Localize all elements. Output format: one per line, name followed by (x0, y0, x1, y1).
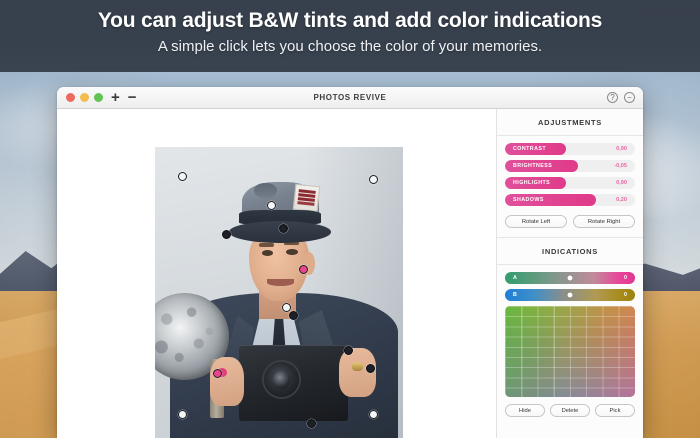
minimize-button[interactable] (80, 93, 89, 102)
slider-contrast[interactable]: CONTRAST0,90 (505, 143, 635, 155)
control-point[interactable] (178, 410, 187, 419)
indications-body: A 0 B 0 (497, 265, 643, 397)
slider-highlights[interactable]: HIGHLIGHTS0,90 (505, 177, 635, 189)
titlebar-right-tools: ? − (607, 92, 635, 103)
add-icon[interactable]: + (111, 90, 120, 105)
channel-b-label: B (513, 292, 517, 298)
banner-subhead: A simple click lets you choose the color… (0, 38, 700, 55)
channel-a-slider[interactable]: A 0 (505, 272, 635, 284)
hide-button[interactable]: Hide (505, 404, 545, 417)
slider-label: CONTRAST (513, 146, 546, 152)
channel-a-knob[interactable] (568, 276, 573, 281)
remove-icon[interactable]: − (128, 90, 137, 105)
app-window: + − PHOTOS REVIVE ? − (57, 87, 643, 438)
slider-value: 0,90 (616, 146, 627, 152)
channel-b-knob[interactable] (568, 293, 573, 298)
promo-banner: You can adjust B&W tints and add color i… (0, 0, 700, 72)
side-panel: ADJUSTMENTS CONTRAST0,90BRIGHTNESS-0,05H… (497, 109, 643, 438)
adjustments-title: ADJUSTMENTS (497, 109, 643, 136)
rotate-right-button[interactable]: Rotate Right (573, 215, 635, 228)
rotate-left-button[interactable]: Rotate Left (505, 215, 567, 228)
camera-lens-inner (273, 371, 290, 388)
channel-a-label: A (513, 275, 517, 281)
control-point[interactable] (307, 419, 316, 428)
press-card (293, 184, 320, 213)
slider-value: 0,20 (616, 197, 627, 203)
control-point[interactable] (282, 303, 291, 312)
pick-button[interactable]: Pick (595, 404, 635, 417)
control-point[interactable] (299, 265, 308, 274)
rotate-button-row: Rotate Left Rotate Right (497, 211, 643, 237)
window-body: ADJUSTMENTS CONTRAST0,90BRIGHTNESS-0,05H… (57, 109, 643, 438)
subject-eyebrow-left (259, 243, 274, 246)
window-title: PHOTOS REVIVE (57, 93, 643, 102)
slider-label: SHADOWS (513, 197, 544, 203)
canvas-area[interactable] (57, 109, 497, 438)
channel-b-slider[interactable]: B 0 (505, 289, 635, 301)
adjustments-slider-list: CONTRAST0,90BRIGHTNESS-0,05HIGHLIGHTS0,9… (497, 136, 643, 211)
slider-value: 0,90 (616, 180, 627, 186)
control-point[interactable] (213, 369, 222, 378)
channel-a-value: 0 (624, 275, 627, 281)
close-button[interactable] (66, 93, 75, 102)
subject-eye-right (286, 249, 297, 255)
slider-label: HIGHLIGHTS (513, 180, 550, 186)
slider-value: -0,05 (614, 163, 627, 169)
banner-headline: You can adjust B&W tints and add color i… (0, 9, 700, 33)
indications-button-row: Hide Delete Pick (497, 397, 643, 425)
window-titlebar: + − PHOTOS REVIVE ? − (57, 87, 643, 109)
indications-title: INDICATIONS (497, 238, 643, 265)
control-point[interactable] (178, 172, 187, 181)
subject-eye-left (262, 250, 273, 256)
zoom-button[interactable] (94, 93, 103, 102)
color-picker-grid[interactable] (505, 306, 635, 397)
slider-brightness[interactable]: BRIGHTNESS-0,05 (505, 160, 635, 172)
subject-hand-left (210, 357, 245, 406)
subject-ring (352, 362, 363, 371)
control-point[interactable] (366, 364, 375, 373)
color-grid-lines (505, 306, 635, 397)
photo-canvas[interactable] (155, 147, 403, 438)
slider-label: BRIGHTNESS (513, 163, 552, 169)
control-point[interactable] (369, 175, 378, 184)
collapse-icon[interactable]: − (624, 92, 635, 103)
control-point[interactable] (267, 201, 276, 210)
slider-shadows[interactable]: SHADOWS0,20 (505, 194, 635, 206)
channel-b-value: 0 (624, 292, 627, 298)
help-icon[interactable]: ? (607, 92, 618, 103)
traffic-lights (66, 93, 103, 102)
control-point[interactable] (369, 410, 378, 419)
delete-button[interactable]: Delete (550, 404, 590, 417)
hat-dent (254, 183, 276, 198)
